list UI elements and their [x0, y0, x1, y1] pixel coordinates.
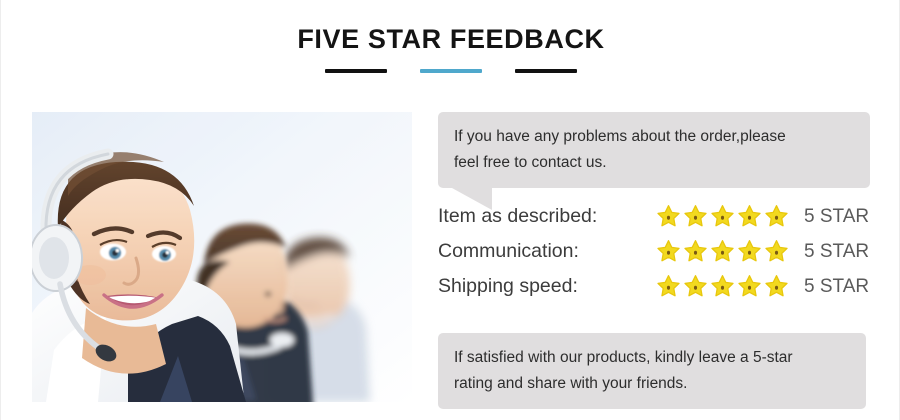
star-icon: [764, 204, 789, 229]
rating-label: Item as described:: [438, 199, 656, 234]
star-icon: [710, 274, 735, 299]
header: FIVE STAR FEEDBACK: [1, 22, 900, 73]
ratings-list: Item as described: 5 STAR Communication:: [438, 199, 870, 304]
rating-value: 5 STAR: [792, 206, 869, 228]
rating-value: 5 STAR: [792, 241, 869, 263]
divider-left-icon: [325, 69, 387, 73]
contact-us-bubble: If you have any problems about the order…: [438, 112, 870, 188]
star-icon: [683, 274, 708, 299]
star-icon: [737, 274, 762, 299]
rating-value: 5 STAR: [792, 276, 869, 298]
star-icon: [683, 204, 708, 229]
star-icon: [737, 204, 762, 229]
rating-row: Shipping speed: 5 STAR: [438, 269, 870, 304]
rating-row: Communication: 5 STAR: [438, 234, 870, 269]
star-icon: [656, 274, 681, 299]
rating-label: Communication:: [438, 234, 656, 269]
rating-label: Shipping speed:: [438, 269, 656, 304]
rating-row: Item as described: 5 STAR: [438, 199, 870, 234]
agents-illustration-icon: [32, 112, 412, 402]
contact-us-line-1: If you have any problems about the order…: [454, 124, 852, 150]
five-star-feedback-banner: FIVE STAR FEEDBACK: [0, 0, 900, 420]
star-icon: [710, 204, 735, 229]
star-rating: [656, 239, 792, 264]
leave-rating-line-1: If satisfied with our products, kindly l…: [454, 345, 848, 371]
feedback-content: If you have any problems about the order…: [438, 112, 870, 402]
divider-center-icon: [420, 69, 482, 73]
star-icon: [764, 239, 789, 264]
star-rating: [656, 274, 792, 299]
star-icon: [656, 239, 681, 264]
customer-service-photo: [32, 112, 412, 402]
star-icon: [764, 274, 789, 299]
divider-right-icon: [515, 69, 577, 73]
star-icon: [737, 239, 762, 264]
star-icon: [656, 204, 681, 229]
title-dividers: [1, 69, 900, 73]
leave-rating-bubble: If satisfied with our products, kindly l…: [438, 333, 866, 409]
contact-us-line-2: feel free to contact us.: [454, 150, 852, 176]
leave-rating-line-2: rating and share with your friends.: [454, 371, 848, 397]
star-icon: [710, 239, 735, 264]
star-icon: [683, 239, 708, 264]
page-title: FIVE STAR FEEDBACK: [1, 22, 900, 56]
star-rating: [656, 204, 792, 229]
